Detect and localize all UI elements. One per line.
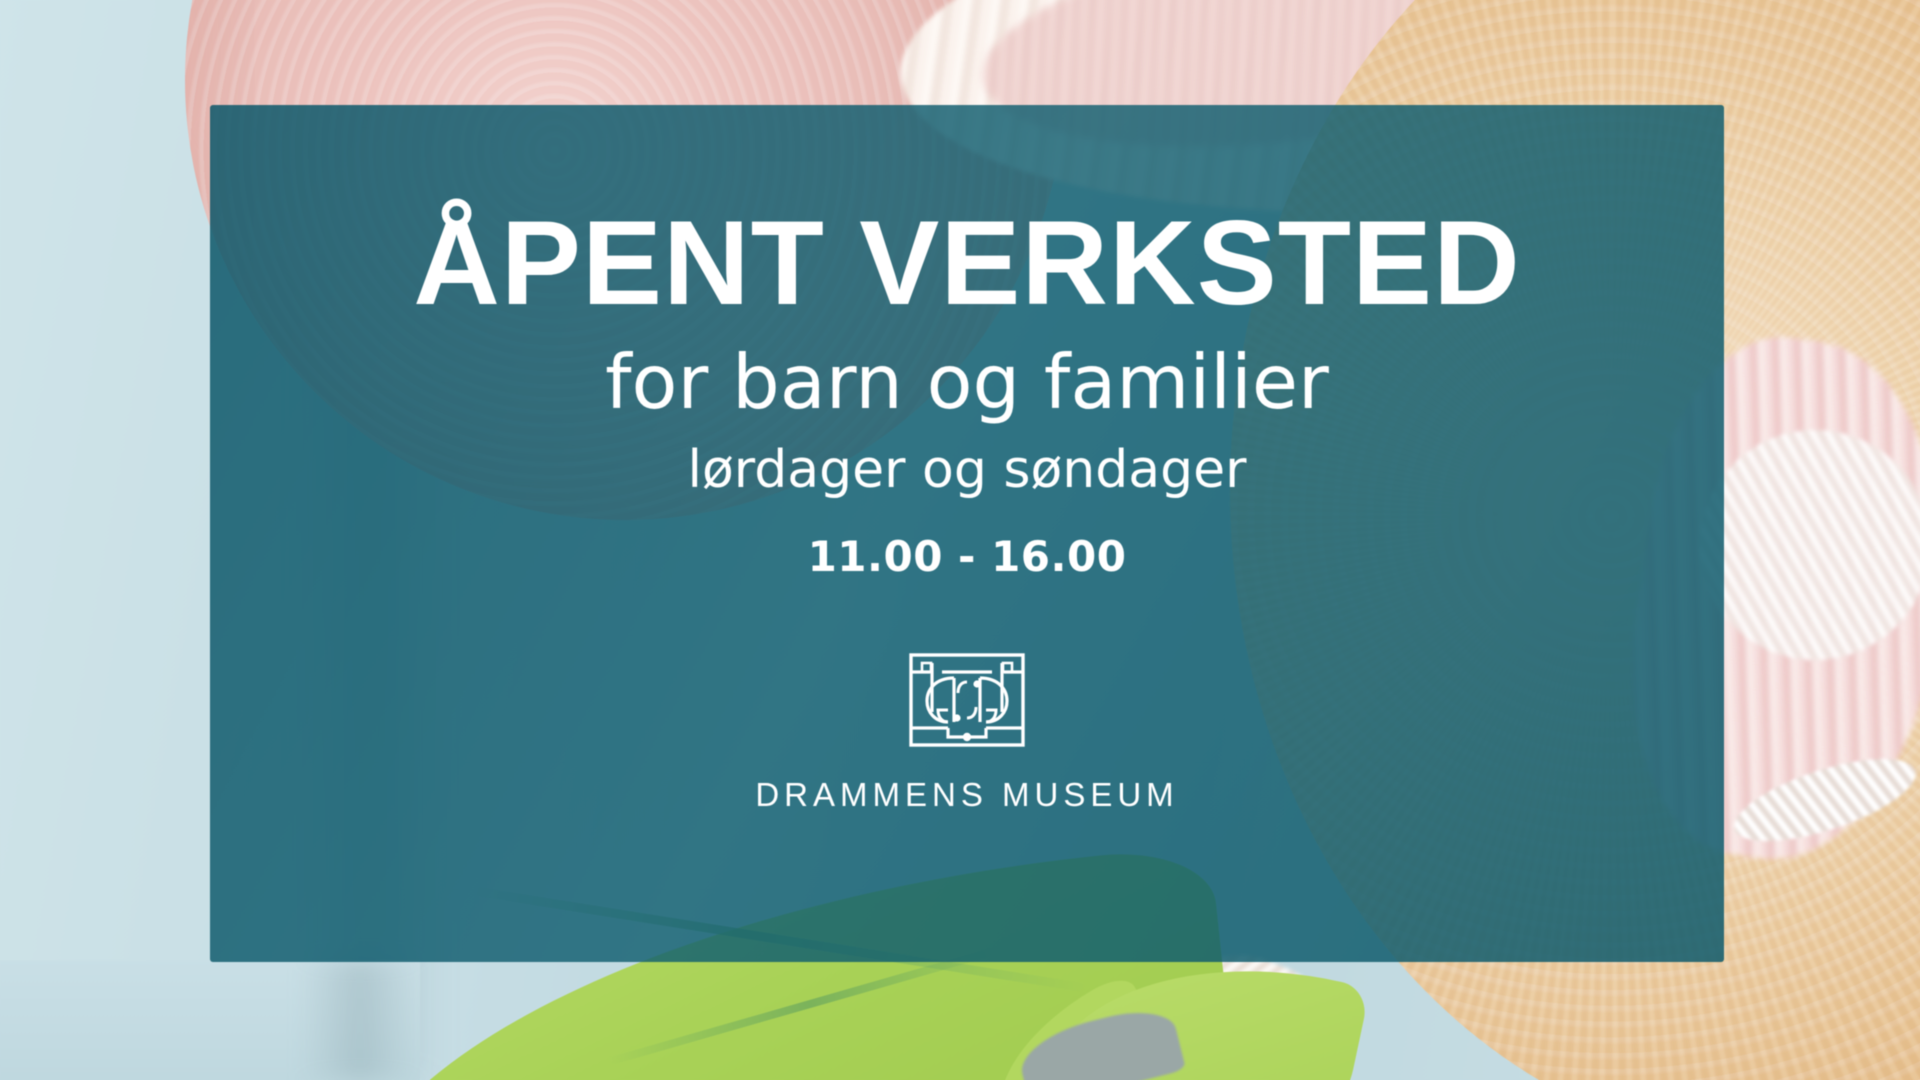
panel-content: ÅPENT VERKSTED for barn og familier lørd… <box>210 105 1724 962</box>
drammens-museum-monogram-icon <box>908 652 1026 752</box>
wall-bottom-shadow <box>300 960 420 1080</box>
white-yarn-right <box>1700 430 1920 660</box>
teal-overlay-panel: ÅPENT VERKSTED for barn og familier lørd… <box>210 105 1724 962</box>
poster-hours: 11.00 - 16.00 <box>808 536 1127 578</box>
logo-block: DRAMMENS MUSEUM <box>755 652 1178 814</box>
poster-title: ÅPENT VERKSTED <box>413 203 1520 323</box>
poster: ÅPENT VERKSTED for barn og familier lørd… <box>0 0 1920 1080</box>
poster-days: lørdager og søndager <box>688 444 1247 496</box>
poster-subtitle: for barn og familier <box>605 345 1329 420</box>
brand-name: DRAMMENS MUSEUM <box>755 776 1178 814</box>
